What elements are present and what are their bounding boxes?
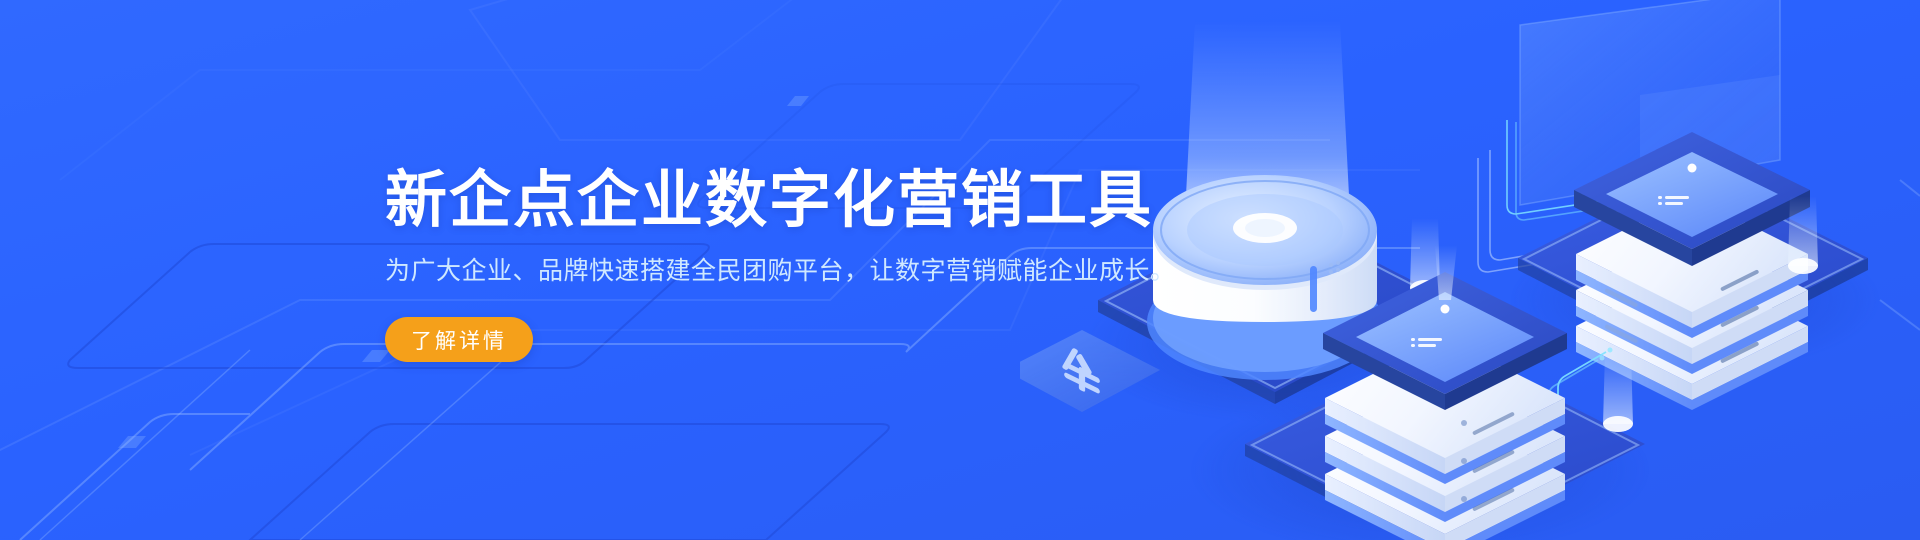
hub-status-strip [1310, 266, 1317, 312]
page-title: 新企点企业数字化营销工具 [385, 168, 1205, 235]
banner-subtitle: 为广大企业、品牌快速搭建全民团购平台，让数字营销赋能企业成长。 [385, 255, 1205, 288]
cta-container: 了解详情 [385, 317, 1205, 362]
server-led [1688, 164, 1697, 173]
learn-more-button[interactable]: 了解详情 [385, 317, 533, 362]
edge-accents [1880, 180, 1920, 330]
banner-content: 新企点企业数字化营销工具 为广大企业、品牌快速搭建全民团购平台，让数字营销赋能企… [385, 168, 1205, 362]
light-pillar-3 [1603, 352, 1633, 432]
server-led-lower [1441, 305, 1450, 314]
light-pillar-2 [1788, 196, 1818, 274]
promo-banner: 新企点企业数字化营销工具 为广大企业、品牌快速搭建全民团购平台，让数字营销赋能企… [0, 0, 1920, 540]
